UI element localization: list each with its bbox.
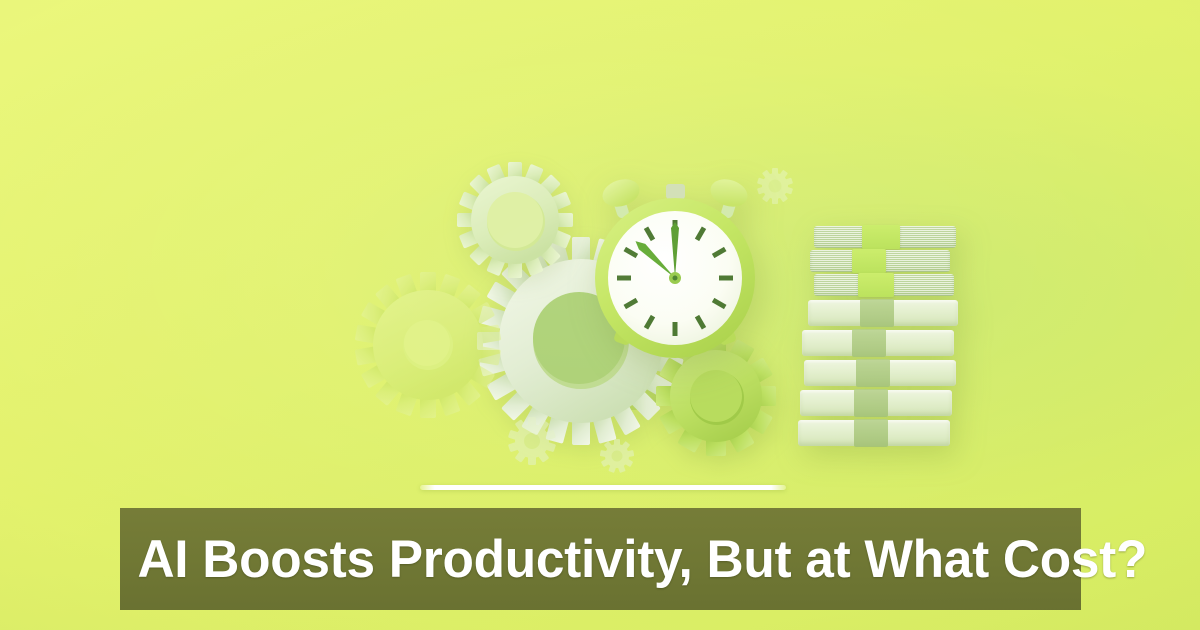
share-card: AI Boosts Productivity, But at What Cost… xyxy=(0,0,1200,630)
banknote-bundle xyxy=(798,420,950,446)
banknote-band xyxy=(860,299,894,327)
gear-tiny-bottom-icon xyxy=(600,439,634,473)
banknote-bundle xyxy=(800,390,952,416)
divider-rule xyxy=(420,485,786,490)
banknote-band xyxy=(862,225,900,249)
banknote-bundle xyxy=(814,226,956,248)
gear-small-bottom-icon xyxy=(508,417,556,465)
banknote-band xyxy=(852,249,886,273)
banknote-bundle xyxy=(804,360,956,386)
money-stack xyxy=(796,226,976,456)
gear-ring-top-icon xyxy=(457,162,573,278)
banknote-bundle xyxy=(802,330,954,356)
page-title: AI Boosts Productivity, But at What Cost… xyxy=(120,533,1147,586)
banknote-bundle xyxy=(808,300,958,326)
banknote-band xyxy=(854,419,888,447)
banknote-band xyxy=(854,389,888,417)
banknote-band xyxy=(858,273,894,297)
banknote-band xyxy=(852,329,886,357)
title-banner: AI Boosts Productivity, But at What Cost… xyxy=(120,508,1081,610)
alarm-clock-icon xyxy=(575,168,775,368)
banknote-band xyxy=(856,359,890,387)
gear-left-icon xyxy=(355,272,501,418)
banknote-bundle xyxy=(810,250,950,272)
banknote-bundle xyxy=(814,274,954,296)
